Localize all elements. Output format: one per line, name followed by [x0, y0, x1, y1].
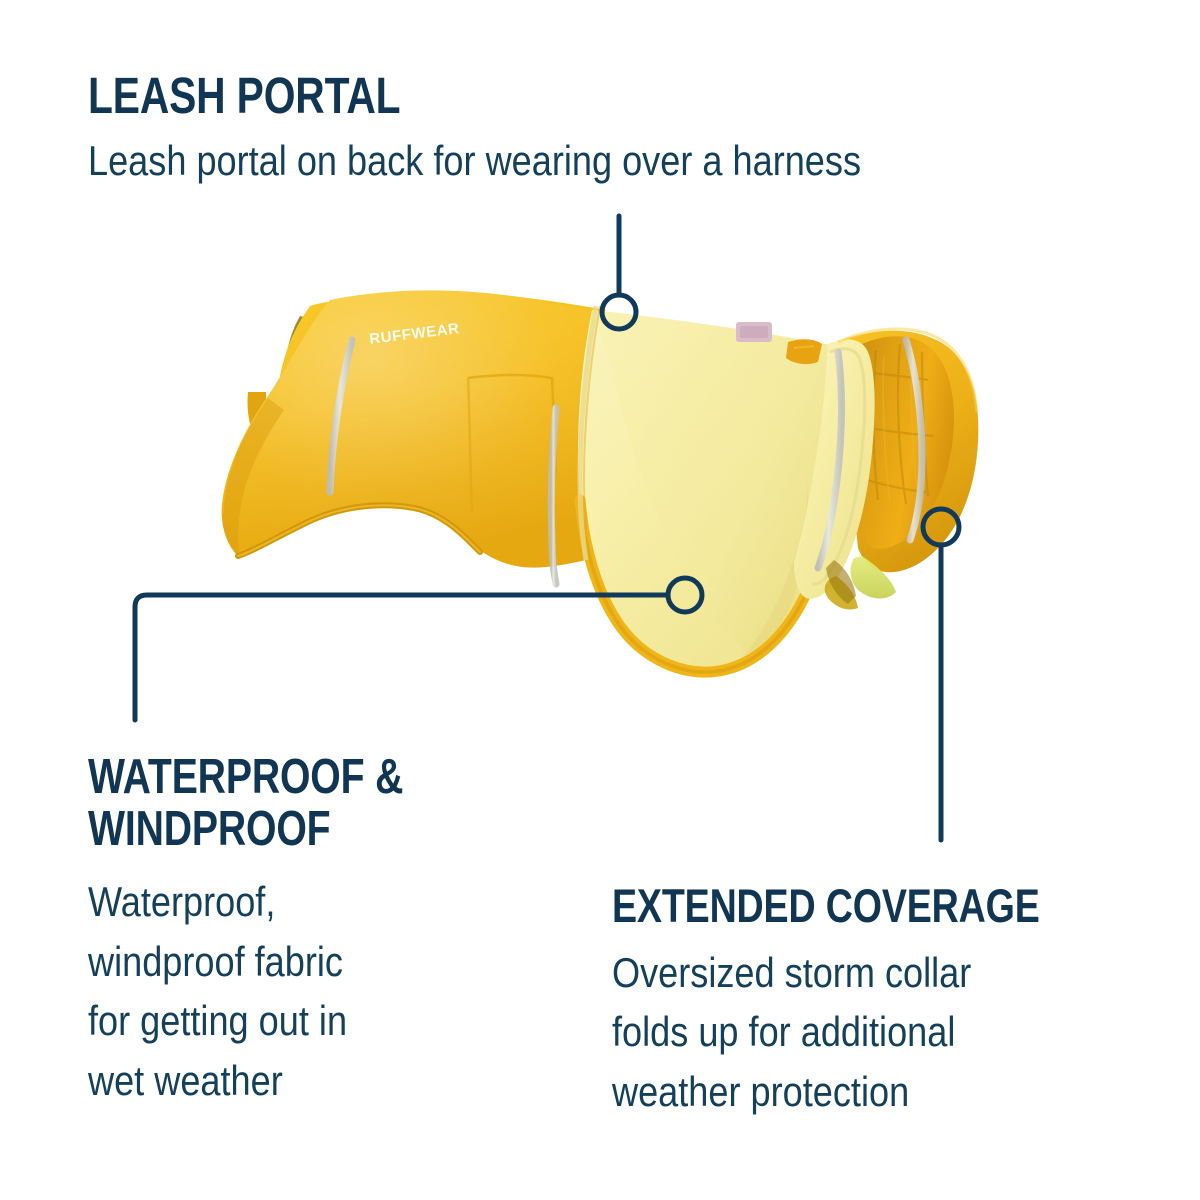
jacket-pale-front-panel	[578, 310, 842, 672]
product-image-dog-rain-jacket: RUFFWEAR	[0, 0, 1200, 1200]
infographic-canvas: RUFFWEAR LEASH PORTAL Leash portal on ba…	[0, 0, 1200, 1200]
adjustment-tab	[786, 339, 822, 364]
brand-label-patch	[736, 322, 772, 342]
